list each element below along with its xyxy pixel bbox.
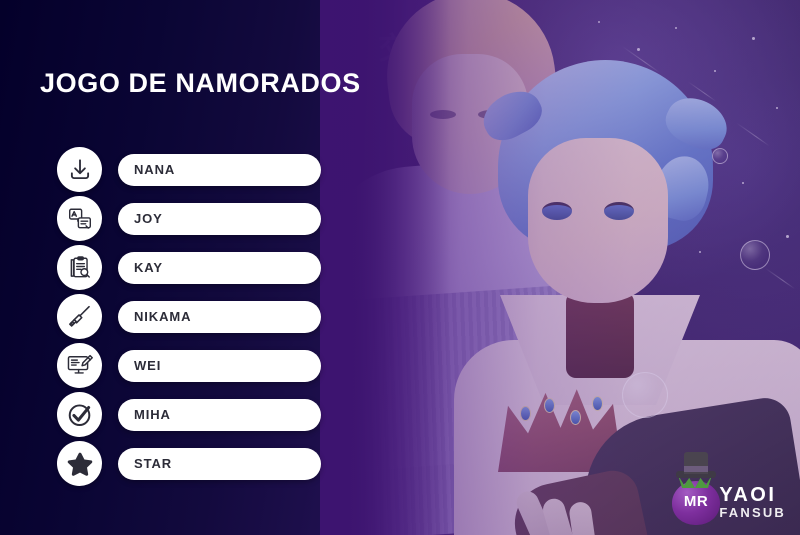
credit-pill-download[interactable]: NANA bbox=[118, 154, 321, 186]
credit-pill-typesetting[interactable]: WEI bbox=[118, 350, 321, 382]
credit-pill-star[interactable]: STAR bbox=[118, 448, 321, 480]
page-title: JOGO DE NAMORADOS bbox=[40, 68, 361, 99]
credits-list: NANA JOY bbox=[57, 146, 321, 489]
credit-name: MIHA bbox=[134, 407, 171, 422]
credit-name: JOY bbox=[134, 211, 163, 226]
proofread-icon[interactable] bbox=[57, 245, 102, 290]
check-icon[interactable] bbox=[57, 392, 102, 437]
eggplant-mascot-icon: MR bbox=[668, 451, 717, 525]
credit-row-translate[interactable]: JOY bbox=[57, 195, 321, 242]
translate-icon[interactable] bbox=[57, 196, 102, 241]
download-icon[interactable] bbox=[57, 147, 102, 192]
credit-name: NANA bbox=[134, 162, 175, 177]
star-icon[interactable] bbox=[57, 441, 102, 486]
credit-row-cleaning[interactable]: NIKAMA bbox=[57, 293, 321, 340]
logo-monogram: MR bbox=[678, 493, 714, 510]
credit-name: WEI bbox=[134, 358, 161, 373]
credit-pill-check[interactable]: MIHA bbox=[118, 399, 321, 431]
typesetting-icon[interactable] bbox=[57, 343, 102, 388]
credits-card: 交到男 bbox=[0, 0, 800, 535]
cleaning-icon[interactable] bbox=[57, 294, 102, 339]
logo-line-2: FANSUB bbox=[719, 506, 786, 519]
credit-pill-translate[interactable]: JOY bbox=[118, 203, 321, 235]
credit-pill-cleaning[interactable]: NIKAMA bbox=[118, 301, 321, 333]
credit-name: STAR bbox=[134, 456, 172, 471]
logo-wordmark: YAOI FANSUB bbox=[719, 485, 786, 519]
credit-row-typesetting[interactable]: WEI bbox=[57, 342, 321, 389]
credit-row-proofread[interactable]: KAY bbox=[57, 244, 321, 291]
credit-row-check[interactable]: MIHA bbox=[57, 391, 321, 438]
credit-pill-proofread[interactable]: KAY bbox=[118, 252, 321, 284]
credit-name: KAY bbox=[134, 260, 163, 275]
fansub-logo-watermark: MR YAOI FANSUB bbox=[668, 447, 786, 525]
credit-row-star[interactable]: STAR bbox=[57, 440, 321, 487]
logo-line-1: YAOI bbox=[719, 485, 786, 505]
credit-row-download[interactable]: NANA bbox=[57, 146, 321, 193]
credit-name: NIKAMA bbox=[134, 309, 191, 324]
